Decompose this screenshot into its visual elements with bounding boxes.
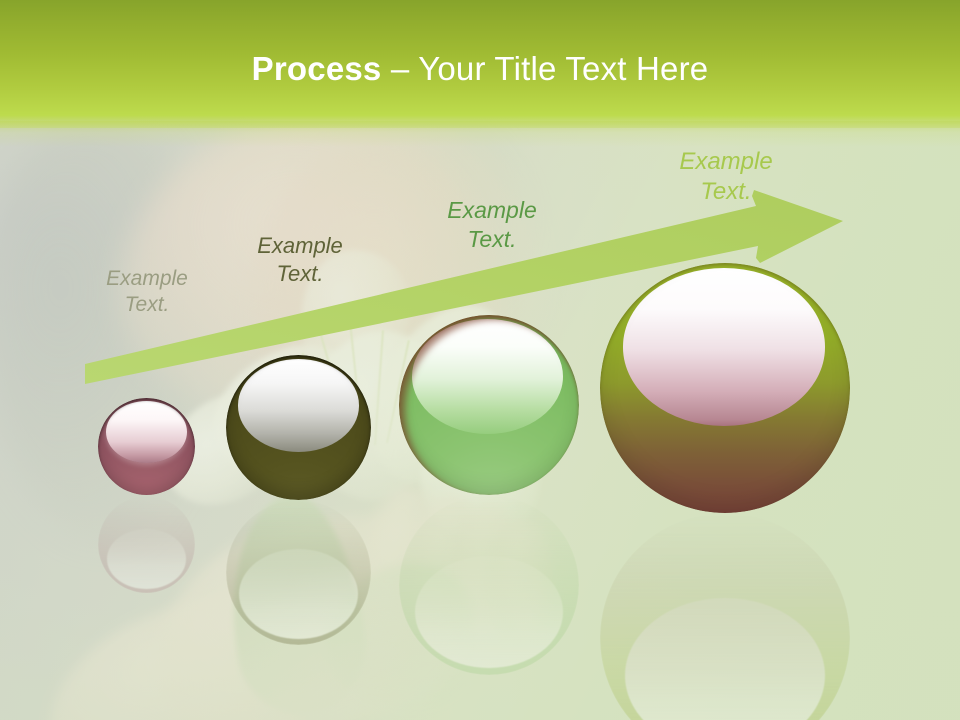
step-label-4: Example Text. [642,147,810,207]
sphere-step-4[interactable] [600,263,850,513]
step-label-3: Example Text. [410,196,574,254]
sphere-step-1[interactable] [98,398,195,495]
page-title-rest: Your Title Text Here [418,50,708,87]
step-label-1: Example Text. [71,266,223,319]
sphere-reflection-2 [226,500,371,645]
slide-canvas: Example Text. Example Text. Example Text… [0,0,960,720]
page-title: Process – Your Title Text Here [0,49,960,89]
page-title-dash: – [381,50,418,87]
sphere-reflection-1 [98,496,195,593]
sphere-step-3[interactable] [399,315,579,495]
sphere-step-2[interactable] [226,355,371,500]
title-bar-fade [0,121,960,147]
sphere-reflection-3 [399,495,579,675]
step-label-2: Example Text. [222,232,378,287]
page-title-strong: Process [252,50,382,87]
